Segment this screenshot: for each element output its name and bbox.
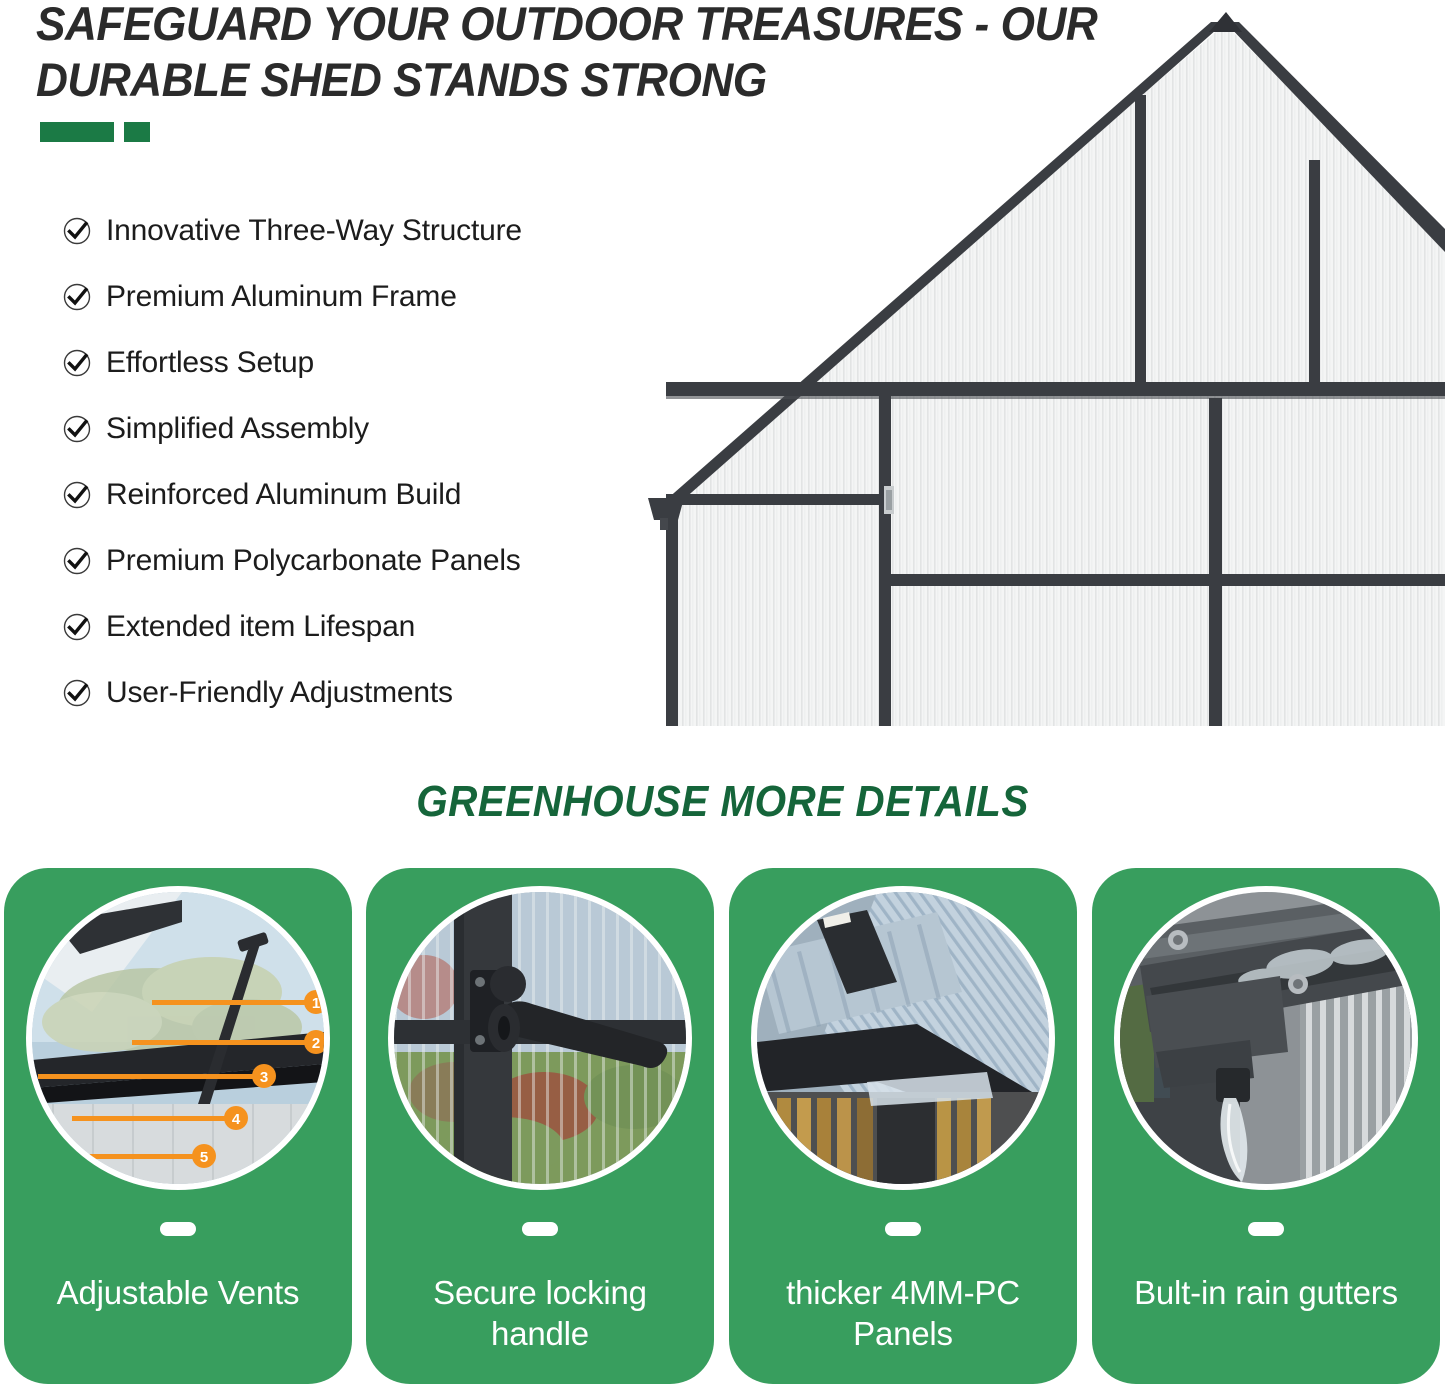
- check-circle-icon: [62, 216, 92, 246]
- check-circle-icon: [62, 678, 92, 708]
- feature-item: Effortless Setup: [62, 330, 702, 396]
- svg-text:1: 1: [312, 995, 320, 1012]
- check-circle-icon: [62, 414, 92, 444]
- feature-label: User-Friendly Adjustments: [106, 676, 453, 710]
- svg-text:4: 4: [232, 1111, 241, 1128]
- detail-card-adjustable-vents[interactable]: 1 2 3 4 5 Adjustable Vents: [4, 868, 352, 1384]
- detail-card-pc-panels[interactable]: thicker 4MM-PC Panels: [729, 868, 1077, 1384]
- card-caption: thicker 4MM-PC Panels: [729, 1272, 1077, 1354]
- feature-item: User-Friendly Adjustments: [62, 660, 702, 726]
- card-divider: [1248, 1222, 1284, 1236]
- feature-list: Innovative Three-Way Structure Premium A…: [62, 198, 702, 726]
- feature-item: Reinforced Aluminum Build: [62, 462, 702, 528]
- svg-text:3: 3: [260, 1069, 268, 1086]
- detail-card-rain-gutters[interactable]: Bult-in rain gutters: [1092, 868, 1440, 1384]
- accent-bar-group: [40, 122, 150, 142]
- check-circle-icon: [62, 546, 92, 576]
- accent-bar-short: [124, 122, 150, 142]
- check-circle-icon: [62, 480, 92, 510]
- rain-gutter-photo: [1114, 886, 1418, 1190]
- card-caption: Bult-in rain gutters: [1092, 1272, 1440, 1313]
- card-caption: Secure locking handle: [366, 1272, 714, 1354]
- feature-label: Premium Polycarbonate Panels: [106, 544, 521, 578]
- feature-item: Premium Aluminum Frame: [62, 264, 702, 330]
- card-divider: [160, 1222, 196, 1236]
- card-caption: Adjustable Vents: [4, 1272, 352, 1313]
- feature-item: Simplified Assembly: [62, 396, 702, 462]
- polycarbonate-panel-photo: [751, 886, 1055, 1190]
- door-handle-photo: [388, 886, 692, 1190]
- feature-label: Reinforced Aluminum Build: [106, 478, 461, 512]
- check-circle-icon: [62, 282, 92, 312]
- detail-card-secure-locking-handle[interactable]: Secure locking handle: [366, 868, 714, 1384]
- accent-bar-long: [40, 122, 114, 142]
- detail-card-grid: 1 2 3 4 5 Adjustable Vents: [0, 868, 1445, 1384]
- feature-label: Premium Aluminum Frame: [106, 280, 457, 314]
- svg-text:5: 5: [200, 1149, 208, 1166]
- feature-item: Innovative Three-Way Structure: [62, 198, 702, 264]
- check-circle-icon: [62, 612, 92, 642]
- greenhouse-shed-illustration: [640, 0, 1445, 740]
- details-section-title: GREENHOUSE MORE DETAILS: [58, 776, 1387, 828]
- feature-item: Premium Polycarbonate Panels: [62, 528, 702, 594]
- check-circle-icon: [62, 348, 92, 378]
- card-divider: [885, 1222, 921, 1236]
- feature-label: Innovative Three-Way Structure: [106, 214, 522, 248]
- feature-label: Extended item Lifespan: [106, 610, 415, 644]
- feature-label: Simplified Assembly: [106, 412, 369, 446]
- feature-label: Effortless Setup: [106, 346, 314, 380]
- svg-text:2: 2: [312, 1035, 320, 1052]
- feature-item: Extended item Lifespan: [62, 594, 702, 660]
- roof-vent-photo: 1 2 3 4 5: [26, 886, 330, 1190]
- card-divider: [522, 1222, 558, 1236]
